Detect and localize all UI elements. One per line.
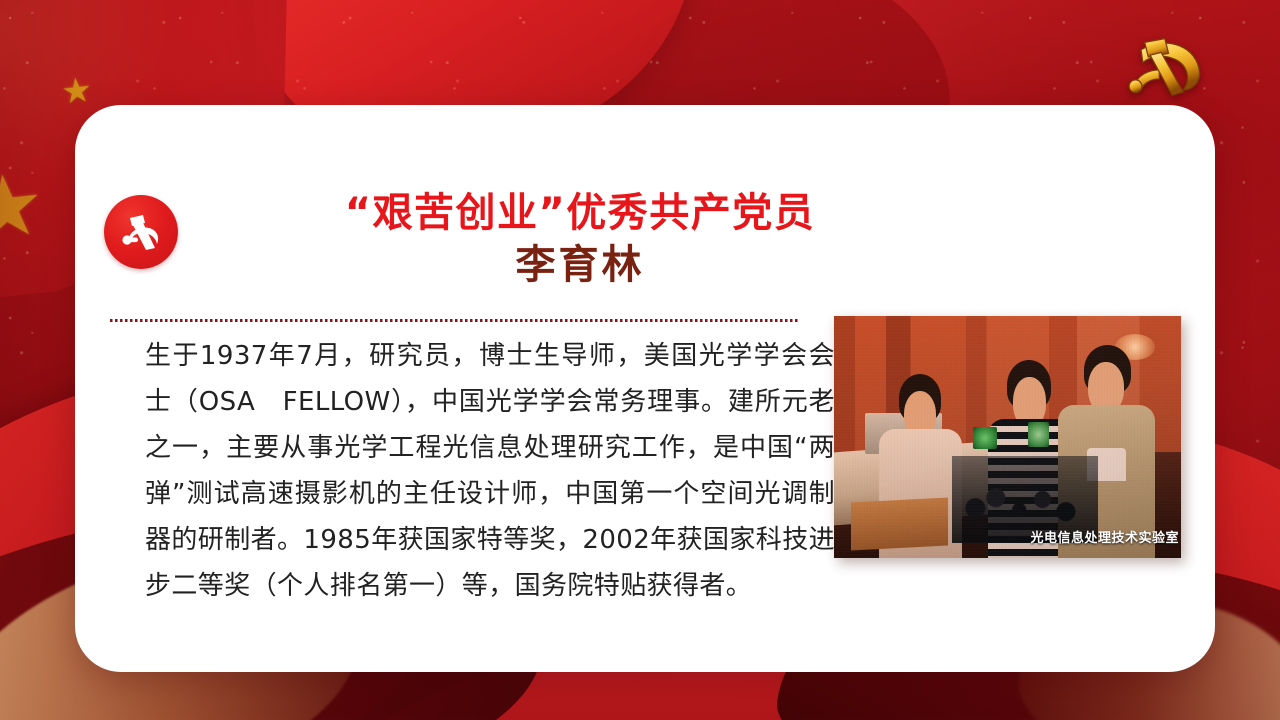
title-block: “艰苦创业”优秀共产党员 李育林 (200, 190, 960, 290)
lab-photo: 光电信息处理技术实验室 (834, 316, 1181, 558)
photo-film-grain (834, 316, 1181, 558)
page-title: “艰苦创业”优秀共产党员 (200, 190, 960, 236)
party-emblem-icon (1108, 22, 1218, 114)
photo-caption: 光电信息处理技术实验室 (1030, 527, 1181, 546)
dotted-divider (110, 319, 800, 322)
person-name: 李育林 (200, 240, 960, 290)
biography-text: 生于1937年7月，研究员，博士生导师，美国光学学会会士（OSA FELLOW）… (145, 333, 835, 609)
party-badge-icon (104, 195, 178, 269)
content-card: “艰苦创业”优秀共产党员 李育林 生于1937年7月，研究员，博士生导师，美国光… (75, 105, 1215, 672)
slide-canvas: ★ ★ ★ ★ ★ (0, 0, 1280, 720)
